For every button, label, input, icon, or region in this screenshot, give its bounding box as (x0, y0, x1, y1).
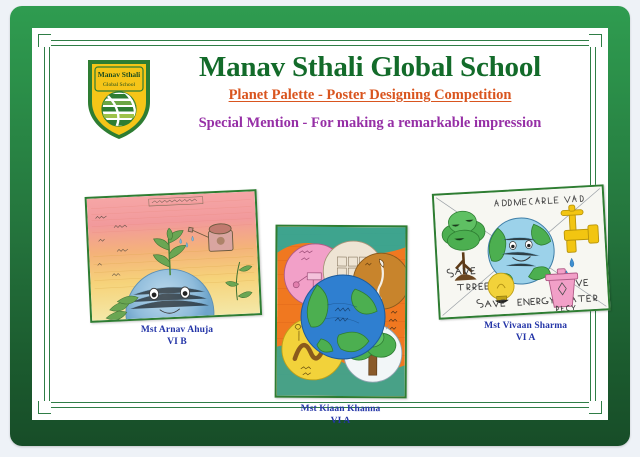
artwork-kiaan-khanna (275, 225, 408, 399)
student-name: Mst Vivaan Sharma (440, 320, 612, 332)
student-name: Mst Kiaan Khanna (275, 403, 407, 416)
award-mention-text: Special Mention - For making a remarkabl… (160, 115, 580, 132)
entry-caption-kiaan-khanna: Mst Kiaan Khanna VI A (274, 403, 406, 428)
corner-step-bottom-right (589, 401, 602, 414)
artwork-arnav-drawing (87, 191, 260, 320)
student-class: VI A (274, 415, 406, 428)
entry-card-arnav-ahuja: Mst Arnav Ahuja VI B (85, 189, 264, 352)
entry-card-kiaan-khanna: Mst Kiaan Khanna VI A (274, 225, 407, 428)
corner-step-bottom-left (38, 401, 51, 414)
crest-line-2: Global School (103, 82, 136, 88)
certificate-header: Manav Sthali Global School (32, 50, 608, 170)
student-name: Mst Arnav Ahuja (91, 324, 263, 336)
artwork-vivaan-sharma (432, 184, 611, 319)
entry-caption-arnav-ahuja: Mst Arnav Ahuja VI B (91, 324, 263, 348)
title-block: Manav Sthali Global School Planet Palett… (160, 50, 580, 132)
artwork-vivaan-drawing (434, 186, 609, 317)
artwork-kiaan-drawing (277, 227, 406, 397)
artwork-arnav-ahuja (85, 189, 263, 323)
crest-shield-icon: Manav Sthali Global School (82, 56, 156, 142)
certificate-paper: Manav Sthali Global School (32, 28, 608, 420)
corner-step-top-left (38, 34, 51, 47)
page-title: Manav Sthali Global School (160, 50, 580, 84)
student-class: VI B (91, 336, 263, 348)
event-subtitle: Planet Palette - Poster Designing Compet… (160, 87, 580, 104)
entry-card-vivaan-sharma: Mst Vivaan Sharma VI A (432, 184, 612, 348)
corner-step-top-right (589, 34, 602, 47)
entry-caption-vivaan-sharma: Mst Vivaan Sharma VI A (440, 320, 612, 344)
crest-line-1: Manav Sthali (98, 70, 141, 79)
certificate-frame: Manav Sthali Global School (10, 6, 630, 446)
student-class: VI A (440, 332, 612, 344)
school-crest-logo: Manav Sthali Global School (82, 56, 156, 142)
